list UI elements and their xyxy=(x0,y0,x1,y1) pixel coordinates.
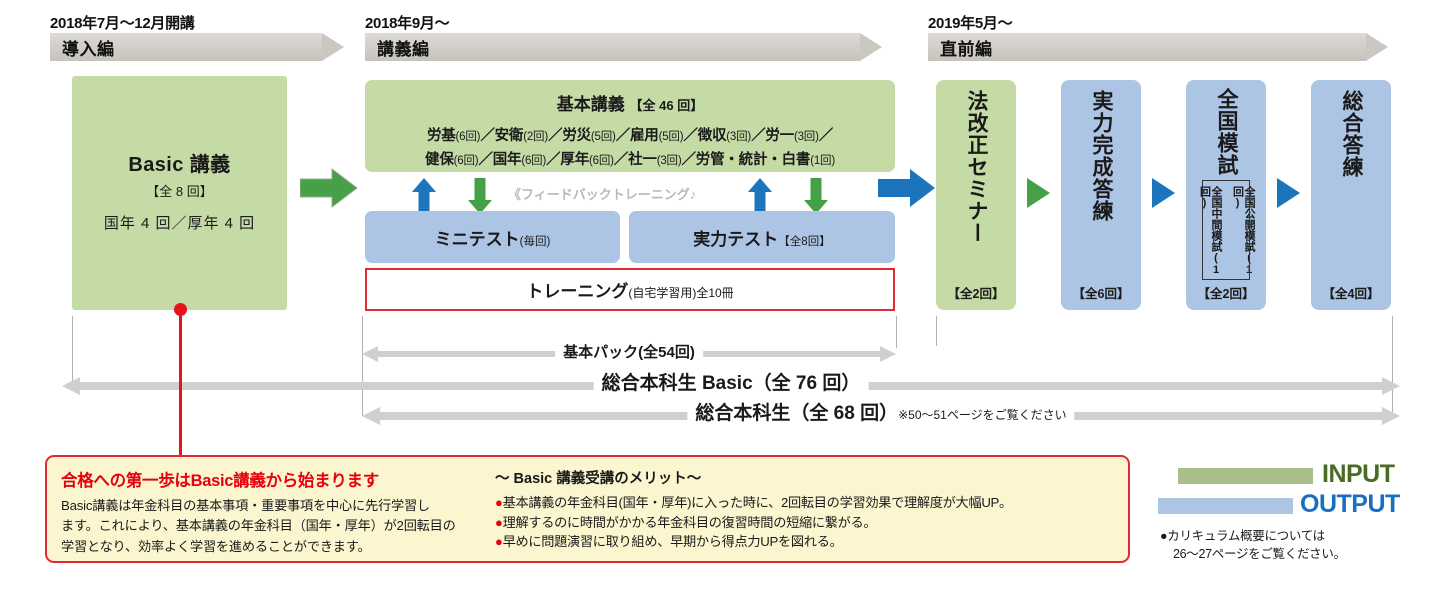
core-lecture-count: 【全 46 回】 xyxy=(630,98,704,113)
phase-date-0: 2018年7月〜12月開講 xyxy=(50,12,195,33)
arrow-right-blue-small-icon-1 xyxy=(1152,178,1176,208)
skill-test-title: 実力テスト xyxy=(693,230,778,249)
span-sogo-caption: 総合本科生（全 68 回）※50〜51ページをご覧ください xyxy=(687,404,1074,425)
phase-bar-1: 講義編 xyxy=(365,33,900,61)
legend-note: ●カリキュラム概要については 26〜27ページをご覧ください。 xyxy=(1160,527,1346,563)
subject-count: (5回) xyxy=(591,131,616,143)
arrow-right-green-icon xyxy=(300,168,358,208)
final-box-0: 法改正セミナー 【全2回】 xyxy=(936,80,1016,310)
phase-label-1: 講義編 xyxy=(377,35,430,60)
callout-title: 合格への第一歩はBasic講義から始まります xyxy=(61,467,481,491)
subject-name: 労基 xyxy=(427,128,456,144)
core-subjects-line-2: 健保(6回)／国年(6回)／厚年(6回)／社一(3回)／労管・統計・白書(1回) xyxy=(365,148,895,169)
subject-count: (3回) xyxy=(657,155,682,167)
subject-count: (1回) xyxy=(810,155,835,167)
training-title: トレーニング xyxy=(526,282,628,301)
subject-name: 健保 xyxy=(425,152,454,168)
subject-count: (3回) xyxy=(726,131,751,143)
merit-title: 〜 Basic 講義受講のメリット〜 xyxy=(495,467,1115,488)
phase-bar-0: 導入編 xyxy=(50,33,360,61)
subject-name: 労災 xyxy=(562,128,591,144)
arrow-up-blue-icon-2 xyxy=(747,178,773,214)
subject-name: 厚年 xyxy=(560,152,589,168)
bullet-icon-2: ● xyxy=(495,534,503,549)
bullet-icon-0: ● xyxy=(495,495,503,510)
bracket-right xyxy=(1249,180,1250,280)
span-sogo: 総合本科生（全 68 回）※50〜51ページをご覧ください xyxy=(362,404,1400,428)
callout-box: 合格への第一歩はBasic講義から始まります Basic講義は年金科目の基本事項… xyxy=(45,455,1130,563)
skill-test-count: 【全8回】 xyxy=(778,236,830,248)
final-box-0-count: 【全2回】 xyxy=(936,283,1016,302)
final-box-2-title: 全国模試 xyxy=(1211,88,1241,176)
subject-count: (6回) xyxy=(589,155,614,167)
subject-name: 雇用 xyxy=(630,128,659,144)
core-subjects-line-1: 労基(6回)／安衛(2回)／労災(5回)／雇用(5回)／徴収(3回)／労一(3回… xyxy=(365,124,895,145)
basic-lecture-count: 【全 8 回】 xyxy=(72,181,287,200)
basic-lecture-block: Basic 講義 【全 8 回】 国年 4 回／厚年 4 回 xyxy=(72,76,287,310)
basic-lecture-title: Basic 講義 xyxy=(72,148,287,177)
span-sogo-caption-text: 総合本科生（全 68 回） xyxy=(695,403,898,424)
red-connector-line xyxy=(179,310,182,457)
phase-arrow-head-2 xyxy=(1366,33,1388,61)
arrow-right-blue-icon xyxy=(878,168,936,208)
subject-name: 労管・統計・白書 xyxy=(696,152,810,168)
final-box-3-title: 総合答練 xyxy=(1336,90,1366,178)
span-basic-pack: 基本パック(全54回) xyxy=(362,344,896,364)
final-box-2-subitems: 全国公開模試(1回) 全国中間模試(1回) xyxy=(1194,180,1258,280)
span-sogo-basic: 総合本科生 Basic（全 76 回） xyxy=(62,374,1400,398)
callout-body-line-0: Basic講義は年金科目の基本事項・重要事項を中心に先行学習し xyxy=(61,496,481,516)
subject-name: 安衛 xyxy=(495,128,524,144)
subject-count: (6回) xyxy=(456,131,481,143)
phase-arrow-head-0 xyxy=(322,33,344,61)
bullet-icon-1: ● xyxy=(495,515,503,530)
phase-label-0: 導入編 xyxy=(62,35,115,60)
phase-arrow-head-1 xyxy=(860,33,882,61)
final-box-1: 実力完成答練 【全6回】 xyxy=(1061,80,1141,310)
merit-item-0: ●基本講義の年金科目(国年・厚年)に入った時に、2回転目の学習効果で理解度が大幅… xyxy=(495,493,1115,513)
phase-date-1: 2018年9月〜 xyxy=(365,12,449,33)
callout-body-line-2: 学習となり、効率よく学習を進めることができます。 xyxy=(61,537,481,557)
arrow-down-green-icon-1 xyxy=(467,178,493,214)
final-box-2-count: 【全2回】 xyxy=(1186,283,1266,302)
final-box-1-title: 実力完成答練 xyxy=(1086,90,1116,222)
phase-bar-2: 直前編 xyxy=(928,33,1406,61)
span-sogo-basic-caption: 総合本科生 Basic（全 76 回） xyxy=(594,374,869,395)
feedback-training-label: 《フィードバックトレーニング♪ xyxy=(508,184,696,203)
subject-count: (5回) xyxy=(659,131,684,143)
phase-date-2: 2019年5月〜 xyxy=(928,12,1012,33)
arrow-up-blue-icon-1 xyxy=(411,178,437,214)
tick-right-end xyxy=(1392,316,1393,416)
callout-body-line-1: ます。これにより、基本講義の年金科目（国年・厚年）が2回転目の xyxy=(61,516,481,536)
merit-item-2: ●早めに問題演習に取り組め、早期から得点力UPを図れる。 xyxy=(495,532,1115,552)
subject-name: 徴収 xyxy=(698,128,727,144)
tick-core-end xyxy=(896,316,897,348)
arrow-right-blue-small-icon-2 xyxy=(1277,178,1301,208)
merit-item-0-text: 基本講義の年金科目(国年・厚年)に入った時に、2回転目の学習効果で理解度が大幅U… xyxy=(503,495,1012,510)
legend-note-line-1: 26〜27ページをご覧ください。 xyxy=(1160,545,1346,563)
final-box-1-count: 【全6回】 xyxy=(1061,283,1141,302)
final-box-0-title: 法改正セミナー xyxy=(961,90,991,244)
subject-name: 国年 xyxy=(493,152,522,168)
merit-item-1-text: 理解するのに時間がかかる年金科目の復習時間の短縮に繋がる。 xyxy=(503,515,877,530)
subject-name: 労一 xyxy=(765,128,794,144)
subject-name: 社一 xyxy=(628,152,657,168)
legend-label-output: OUTPUT xyxy=(1300,490,1400,519)
phase-label-2: 直前編 xyxy=(940,35,993,60)
legend-label-input: INPUT xyxy=(1322,460,1395,489)
legend-swatch-input xyxy=(1178,468,1313,484)
training-block: トレーニング(自宅学習用)全10冊 xyxy=(365,268,895,311)
final-box-3-count: 【全4回】 xyxy=(1311,283,1391,302)
arrow-right-green-small-icon xyxy=(1027,178,1051,208)
curriculum-diagram: 2018年7月〜12月開講 導入編 2018年9月〜 講義編 2019年5月〜 … xyxy=(0,0,1440,600)
subject-count: (2回) xyxy=(523,131,548,143)
merit-item-1: ●理解するのに時間がかかる年金科目の復習時間の短縮に繋がる。 xyxy=(495,513,1115,533)
callout-left: 合格への第一歩はBasic講義から始まります Basic講義は年金科目の基本事項… xyxy=(61,467,481,557)
mini-test-title: ミニテスト xyxy=(435,230,520,249)
bracket-bottom xyxy=(1202,279,1250,280)
arrow-down-green-icon-2 xyxy=(803,178,829,214)
skill-test-block: 実力テスト【全8回】 xyxy=(629,211,895,263)
span-basic-pack-caption: 基本パック(全54回) xyxy=(555,345,703,362)
legend-note-line-0: ●カリキュラム概要については xyxy=(1160,527,1346,545)
callout-right: 〜 Basic 講義受講のメリット〜 ●基本講義の年金科目(国年・厚年)に入った… xyxy=(495,467,1115,552)
core-lecture-title: 基本講義 xyxy=(557,95,625,114)
final-box-3: 総合答練 【全4回】 xyxy=(1311,80,1391,310)
final-box-2: 全国模試 全国公開模試(1回) 全国中間模試(1回) 【全2回】 xyxy=(1186,80,1266,310)
merit-item-2-text: 早めに問題演習に取り組め、早期から得点力UPを図れる。 xyxy=(503,534,843,549)
bracket-left xyxy=(1202,180,1203,280)
bracket-top xyxy=(1202,180,1250,181)
span-sogo-caption-note: ※50〜51ページをご覧ください xyxy=(898,408,1067,422)
final-box-2-subitem-0: 全国公開模試(1回) xyxy=(1231,186,1254,278)
training-note: (自宅学習用)全10冊 xyxy=(628,286,733,300)
subject-count: (6回) xyxy=(454,155,479,167)
legend-swatch-output xyxy=(1158,498,1293,514)
mini-test-block: ミニテスト(毎回) xyxy=(365,211,620,263)
tick-core-start xyxy=(362,316,363,416)
mini-test-count: (毎回) xyxy=(520,236,551,248)
subject-count: (3回) xyxy=(794,131,819,143)
tick-final-start xyxy=(936,316,937,346)
basic-lecture-detail: 国年 4 回／厚年 4 回 xyxy=(72,212,287,233)
subject-count: (6回) xyxy=(521,155,546,167)
core-lecture-block: 基本講義 【全 46 回】 労基(6回)／安衛(2回)／労災(5回)／雇用(5回… xyxy=(365,80,895,172)
